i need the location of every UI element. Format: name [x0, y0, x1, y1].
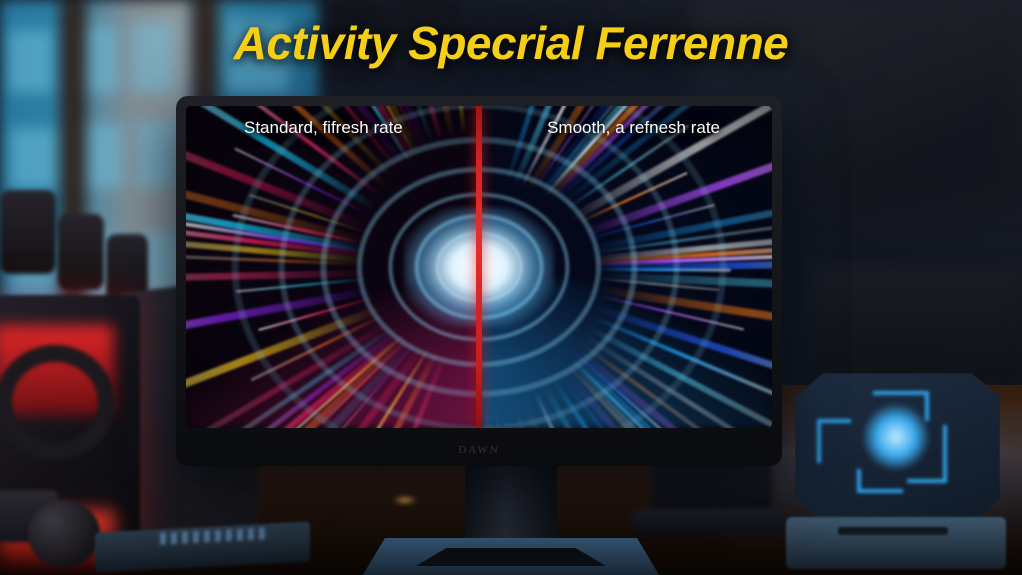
monitor-bezel: Standard, fifresh rate Smooth, a refnesh… — [176, 96, 782, 466]
label-standard-refresh: Standard, fifresh rate — [244, 118, 403, 138]
speaker-ball — [28, 500, 100, 568]
monitor-screen: Standard, fifresh rate Smooth, a refnesh… — [186, 106, 772, 428]
page-title: Activity Specrial Ferrenne — [234, 16, 789, 70]
monitor-stand-neck — [465, 455, 557, 550]
headphones — [0, 345, 115, 460]
photo-scene: Standard, fifresh rate Smooth, a refnesh… — [0, 0, 1022, 575]
shelf — [812, 265, 1022, 385]
monitor-brand-logo: DAWN — [176, 444, 782, 456]
monitor-stand-cutout — [416, 548, 606, 566]
monitor: Standard, fifresh rate Smooth, a refnesh… — [176, 96, 782, 466]
desk-clutter — [632, 509, 782, 535]
dock-slot — [838, 527, 948, 535]
dock-fan-glow — [862, 403, 930, 471]
comparison-divider — [476, 106, 482, 428]
dock-base — [786, 517, 1006, 569]
label-smooth-refresh: Smooth, a refnesh rate — [547, 118, 720, 138]
plug-led — [392, 495, 418, 505]
headline-banner: Activity Specrial Ferrenne — [0, 16, 1022, 70]
